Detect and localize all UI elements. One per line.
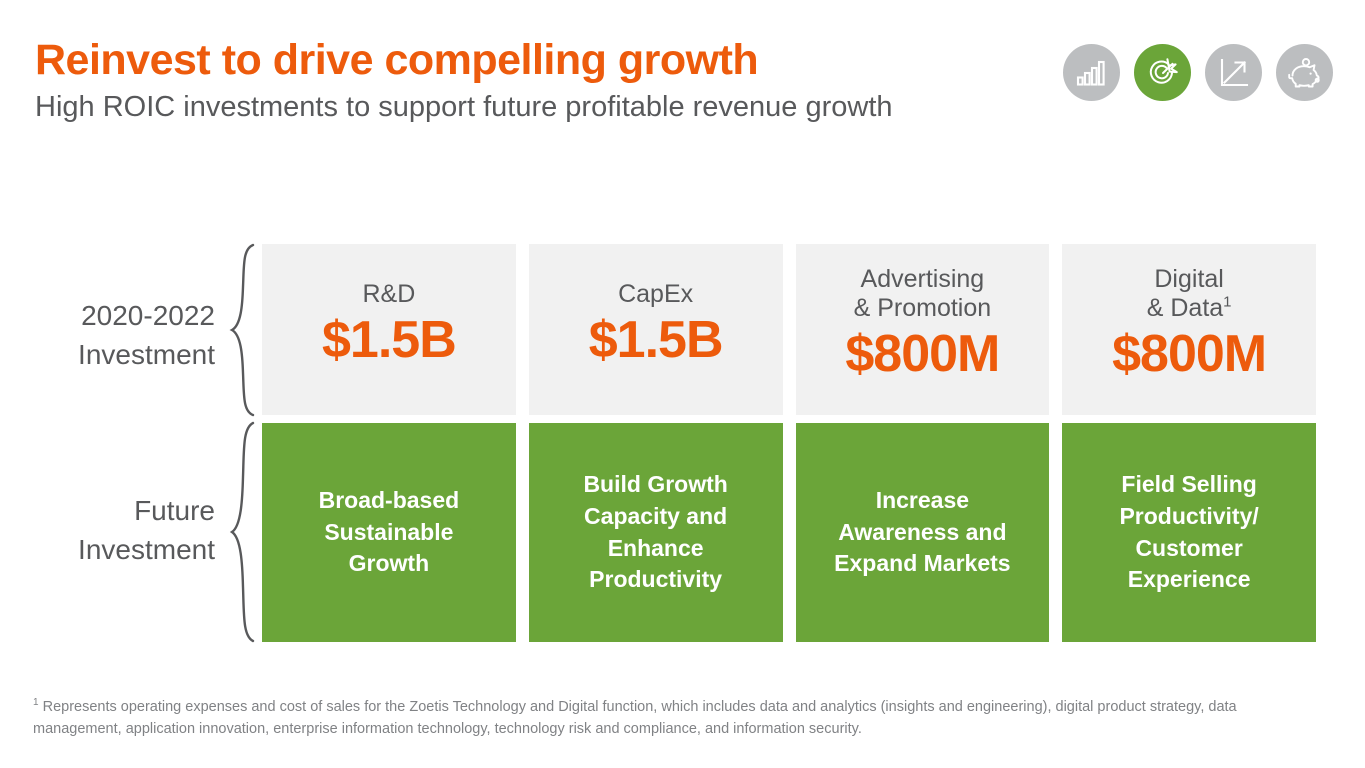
row-label-past-investment: 2020-2022 Investment — [10, 297, 215, 374]
focus-card-digital-data[interactable]: Field Selling Productivity/ Customer Exp… — [1062, 423, 1316, 642]
page-subtitle: High ROIC investments to support future … — [35, 92, 1045, 124]
stat-card-rd-label: R&D — [362, 280, 415, 309]
stat-card-advertising-promotion-value: $800M — [845, 327, 999, 382]
brace-past-investment — [228, 243, 256, 417]
stat-card-advertising-promotion[interactable]: Advertising & Promotion $800M — [796, 244, 1050, 415]
brace-future-investment — [228, 421, 256, 643]
piggy-bank-icon — [1288, 58, 1322, 88]
growth-arrow-icon — [1218, 57, 1250, 89]
growth-arrow-icon-badge[interactable] — [1205, 44, 1262, 101]
stat-card-advertising-promotion-label: Advertising & Promotion — [854, 265, 992, 323]
stat-card-capex-value: $1.5B — [589, 313, 723, 368]
focus-card-advertising-promotion-text: Increase Awareness and Expand Markets — [834, 485, 1010, 580]
focus-card-digital-data-text: Field Selling Productivity/ Customer Exp… — [1119, 469, 1258, 596]
bar-chart-icon-badge[interactable] — [1063, 44, 1120, 101]
stat-card-capex[interactable]: CapEx $1.5B — [529, 244, 783, 415]
bar-chart-icon — [1076, 59, 1108, 87]
focus-card-capex[interactable]: Build Growth Capacity and Enhance Produc… — [529, 423, 783, 642]
stat-card-digital-data-label-text: Digital & Data — [1147, 265, 1224, 322]
page-header: Reinvest to drive compelling growth High… — [35, 38, 1045, 124]
focus-card-rd-text: Broad-based Sustainable Growth — [319, 485, 460, 580]
icon-cluster — [1063, 44, 1333, 101]
stat-card-digital-data[interactable]: Digital & Data1 $800M — [1062, 244, 1316, 415]
footnote: 1 Represents operating expenses and cost… — [33, 696, 1323, 741]
stat-card-digital-data-footnote-marker: 1 — [1223, 294, 1231, 311]
focus-card-rd[interactable]: Broad-based Sustainable Growth — [262, 423, 516, 642]
row-label-future-investment: Future Investment — [10, 492, 215, 569]
target-arrow-icon — [1146, 56, 1180, 90]
stat-card-capex-label: CapEx — [618, 280, 693, 309]
stat-card-digital-data-label: Digital & Data1 — [1147, 265, 1232, 323]
investment-grid: R&D $1.5B CapEx $1.5B Advertising & Prom… — [262, 244, 1316, 642]
focus-card-row: Broad-based Sustainable Growth Build Gro… — [262, 423, 1316, 642]
page-title: Reinvest to drive compelling growth — [35, 38, 1045, 83]
stat-card-rd-value: $1.5B — [322, 313, 456, 368]
footnote-text: Represents operating expenses and cost o… — [33, 699, 1237, 737]
stat-card-digital-data-value: $800M — [1112, 327, 1266, 382]
stat-card-rd[interactable]: R&D $1.5B — [262, 244, 516, 415]
piggy-bank-icon-badge[interactable] — [1276, 44, 1333, 101]
target-arrow-icon-badge[interactable] — [1134, 44, 1191, 101]
focus-card-capex-text: Build Growth Capacity and Enhance Produc… — [583, 469, 727, 596]
focus-card-advertising-promotion[interactable]: Increase Awareness and Expand Markets — [796, 423, 1050, 642]
stat-card-row: R&D $1.5B CapEx $1.5B Advertising & Prom… — [262, 244, 1316, 415]
